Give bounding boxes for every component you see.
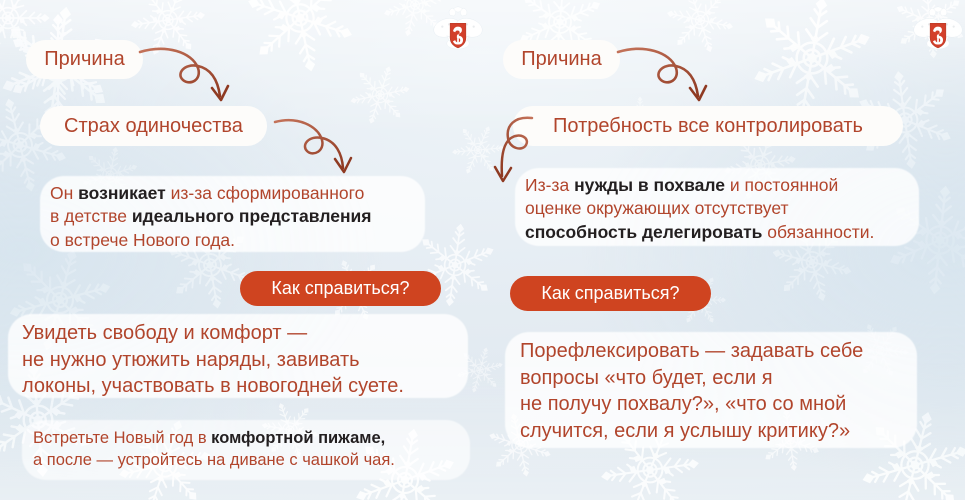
left-description-line-3: о встрече Нового года. <box>50 229 371 252</box>
left-reason-badge[interactable]: Причина <box>26 40 143 79</box>
left-topic-badge[interactable]: Страх одиночества <box>40 106 267 146</box>
left-how-badge[interactable]: Как справиться? <box>240 271 441 306</box>
arrow-right-middle <box>492 110 568 196</box>
left-description: Он возникает из-за сформированного в дет… <box>50 182 371 252</box>
left-reason-badge-label: Причина <box>44 48 124 71</box>
arrow-left-top <box>136 42 246 112</box>
right-reason-badge-label: Причина <box>521 48 601 71</box>
left-note-line-2: а после — устройтесь на диване с чашкой … <box>33 450 395 472</box>
arrow-left-middle <box>272 112 372 184</box>
right-topic-badge[interactable]: Потребность все контролировать <box>513 106 903 146</box>
ministry-of-health-emblem-left <box>430 2 486 58</box>
right-advice: Порефлексировать — задавать себе вопросы… <box>520 338 863 444</box>
left-advice: Увидеть свободу и комфорт — не нужно утю… <box>22 320 404 400</box>
right-description-line-1: Из-за нужды в похвале и постоянной <box>525 174 874 197</box>
left-description-line-2: в детстве идеального представления <box>50 205 371 228</box>
right-topic-badge-label: Потребность все контролировать <box>553 115 863 138</box>
right-how-badge-label: Как справиться? <box>541 283 679 304</box>
left-how-badge-label: Как справиться? <box>271 278 409 299</box>
right-description: Из-за нужды в похвале и постоянной оценк… <box>525 174 874 244</box>
right-advice-line-1: Порефлексировать — задавать себе <box>520 338 863 365</box>
right-advice-line-2: вопросы «что будет, если я <box>520 365 863 392</box>
left-topic-badge-label: Страх одиночества <box>64 115 243 138</box>
infographic-canvas: Причина Страх одиночества Он возникает и… <box>0 0 965 500</box>
left-advice-line-2: не нужно утюжить наряды, завивать <box>22 347 404 374</box>
left-advice-line-3: локоны, участвовать в новогодней суете. <box>22 373 404 400</box>
ministry-of-health-emblem-right <box>910 2 965 58</box>
arrow-right-top <box>614 42 724 112</box>
left-advice-line-1: Увидеть свободу и комфорт — <box>22 320 404 347</box>
right-advice-line-4: случится, если я услышу критику?» <box>520 418 863 445</box>
right-advice-line-3: не получу похвалу?», «что со мной <box>520 391 863 418</box>
right-description-line-3: способность делегировать обязанности. <box>525 221 874 244</box>
left-note-line-1: Встретьте Новый год в комфортной пижаме, <box>33 428 395 450</box>
right-reason-badge[interactable]: Причина <box>503 40 620 79</box>
left-description-line-1: Он возникает из-за сформированного <box>50 182 371 205</box>
left-note: Встретьте Новый год в комфортной пижаме,… <box>33 428 395 472</box>
right-how-badge[interactable]: Как справиться? <box>510 276 711 311</box>
right-description-line-2: оценке окружающих отсутствует <box>525 197 874 220</box>
